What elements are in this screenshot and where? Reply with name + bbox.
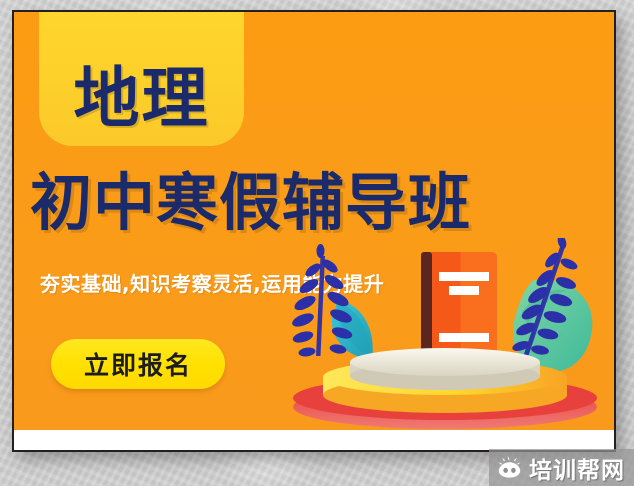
watermark-label: 培训帮网 (529, 451, 625, 485)
banner-artboard: 地理 初中寒假辅导班 夯实基础,知识考察灵活,运用能力提升 立即报名 (14, 12, 614, 430)
sun-eye-icon (497, 456, 522, 479)
subject-badge-label: 地理 (74, 66, 210, 146)
book-podium-illustration (276, 238, 614, 430)
page-backdrop: 地理 初中寒假辅导班 夯实基础,知识考察灵活,运用能力提升 立即报名 (0, 0, 634, 486)
enroll-now-button-label: 立即报名 (84, 346, 192, 382)
page-title: 初中寒假辅导班 (30, 170, 610, 235)
watermark: 培训帮网 (489, 449, 634, 486)
banner-bottom-strip (14, 430, 614, 450)
subject-badge: 地理 (39, 12, 244, 146)
enroll-now-button[interactable]: 立即报名 (51, 339, 225, 389)
course-promo-banner: 地理 初中寒假辅导班 夯实基础,知识考察灵活,运用能力提升 立即报名 (12, 10, 616, 452)
